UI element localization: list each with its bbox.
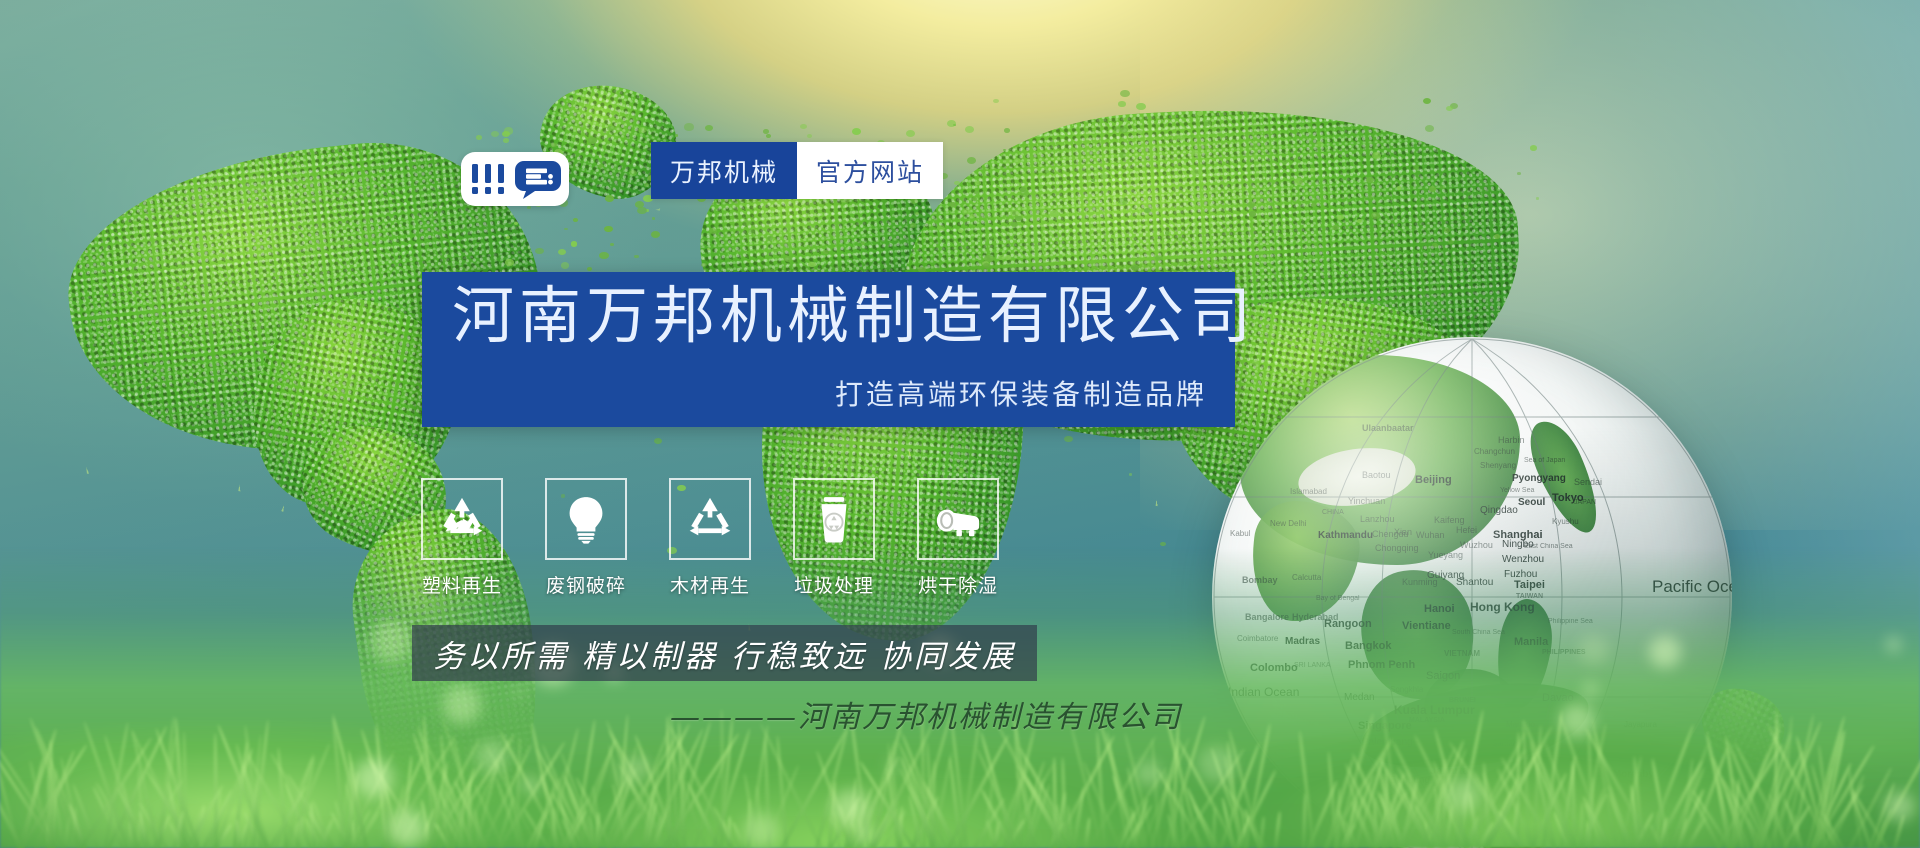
service-icon-box[interactable] bbox=[545, 478, 627, 560]
leaf-speck bbox=[551, 143, 557, 148]
leaf-speck bbox=[740, 203, 743, 205]
leaf-speck bbox=[1211, 188, 1218, 193]
service-item-plastic-recycling[interactable]: 塑料再生 bbox=[420, 478, 504, 598]
leaf-speck bbox=[1120, 90, 1129, 97]
leaf-speck bbox=[1178, 237, 1183, 240]
recycle-icon bbox=[685, 494, 735, 544]
leaf-speck bbox=[675, 134, 678, 136]
leaf-speck bbox=[1413, 165, 1419, 169]
leaf-speck bbox=[993, 99, 999, 103]
bokeh-highlight bbox=[1582, 681, 1599, 698]
slogan-signature: ————河南万邦机械制造有限公司 bbox=[670, 692, 1230, 736]
leaf-speck bbox=[506, 236, 510, 239]
leaf-speck bbox=[1247, 202, 1255, 208]
bokeh-highlight bbox=[633, 759, 648, 774]
service-label: 烘干除湿 bbox=[918, 571, 998, 598]
service-icon-box[interactable] bbox=[793, 478, 875, 560]
bokeh-highlight bbox=[476, 740, 508, 772]
bokeh-highlight bbox=[885, 757, 903, 775]
leaf-speck bbox=[1004, 128, 1010, 132]
leaf-speck bbox=[766, 134, 771, 138]
leaf-speck bbox=[1204, 120, 1212, 126]
leaf-speck bbox=[813, 471, 821, 477]
leaf-speck bbox=[1249, 211, 1256, 216]
leaf-speck bbox=[1131, 265, 1139, 271]
lightbulb-icon bbox=[561, 494, 611, 544]
leaf-speck bbox=[1448, 240, 1454, 244]
leaf-speck bbox=[610, 243, 614, 246]
leaf-speck bbox=[599, 252, 609, 259]
bokeh-highlight bbox=[389, 810, 426, 847]
leaf-speck bbox=[807, 134, 813, 138]
leaf-speck bbox=[1190, 135, 1194, 138]
leaf-speck bbox=[1444, 228, 1450, 233]
leaf-speck bbox=[644, 183, 649, 187]
leaf-speck bbox=[748, 229, 754, 234]
service-icon-box[interactable] bbox=[421, 478, 503, 560]
bokeh-highlight bbox=[744, 813, 779, 848]
service-label: 木材再生 bbox=[670, 571, 750, 598]
leaf-speck bbox=[1372, 152, 1381, 159]
leaf-speck bbox=[1530, 145, 1537, 150]
leaf-speck bbox=[958, 468, 964, 473]
leaf-speck bbox=[684, 123, 694, 130]
leaf-speck bbox=[654, 438, 662, 444]
leaf-speck bbox=[587, 267, 593, 271]
leaf-speck bbox=[1249, 145, 1254, 149]
leaf-speck bbox=[605, 195, 615, 202]
leaf-speck bbox=[634, 255, 639, 258]
leaf-speck bbox=[573, 127, 576, 129]
service-item-drying-dehumidifying[interactable]: 烘干除湿 bbox=[916, 478, 1000, 598]
leaf-speck bbox=[709, 228, 716, 234]
bokeh-highlight bbox=[513, 685, 526, 698]
leaf-speck bbox=[527, 206, 531, 209]
leaf-speck bbox=[1165, 231, 1170, 235]
leaf-speck bbox=[637, 148, 640, 150]
leaf-speck bbox=[970, 214, 975, 218]
service-item-waste-treatment[interactable]: 垃圾处理 bbox=[792, 478, 876, 598]
leaf-speck bbox=[1332, 225, 1339, 230]
leaf-speck bbox=[1129, 473, 1132, 475]
leaf-speck bbox=[967, 157, 977, 164]
grass-blade bbox=[1053, 757, 1057, 848]
leaf-speck bbox=[1118, 198, 1127, 205]
leaf-speck bbox=[1369, 196, 1373, 199]
leaf-speck bbox=[564, 228, 568, 231]
bokeh-highlight bbox=[1885, 792, 1914, 821]
leaf-speck bbox=[629, 170, 637, 176]
service-icon-row[interactable]: 塑料再生 废钢破碎 bbox=[420, 478, 1000, 598]
grass-blade bbox=[1274, 811, 1281, 848]
leaf-speck bbox=[1017, 235, 1023, 239]
leaf-speck bbox=[637, 207, 647, 214]
leaf-speck bbox=[1197, 111, 1203, 116]
e-speech-bubble-icon bbox=[515, 159, 561, 199]
leaf-speck bbox=[588, 137, 598, 144]
service-label: 塑料再生 bbox=[422, 571, 502, 598]
grass-blade bbox=[1298, 731, 1315, 848]
leaf-speck bbox=[965, 126, 974, 133]
service-label: 垃圾处理 bbox=[794, 571, 874, 598]
bokeh-highlight bbox=[523, 777, 538, 792]
leaf-speck bbox=[535, 248, 544, 255]
service-icon-box[interactable] bbox=[669, 478, 751, 560]
service-icon-box[interactable] bbox=[917, 478, 999, 560]
bokeh-highlight bbox=[1578, 635, 1609, 666]
bokeh-highlight bbox=[856, 824, 875, 843]
leaf-speck bbox=[1020, 190, 1029, 197]
leaf-speck bbox=[1316, 141, 1323, 147]
service-item-wood-recycling[interactable]: 木材再生 bbox=[668, 478, 752, 598]
bokeh-highlight bbox=[1447, 778, 1481, 812]
company-logo[interactable] bbox=[461, 152, 569, 206]
leaf-speck bbox=[571, 241, 578, 246]
leaf-speck bbox=[514, 222, 518, 225]
dryer-blower-icon bbox=[933, 494, 983, 544]
leaf-speck bbox=[1310, 168, 1316, 172]
leaf-speck bbox=[998, 255, 1004, 260]
leaf-speck bbox=[1011, 222, 1017, 227]
leaf-speck bbox=[607, 126, 614, 131]
leaf-speck bbox=[651, 231, 660, 238]
leaf-speck bbox=[800, 124, 807, 129]
trash-bin-icon bbox=[809, 494, 859, 544]
leaf-speck bbox=[983, 263, 990, 268]
leaf-speck bbox=[852, 128, 861, 135]
leaf-speck bbox=[1536, 197, 1540, 200]
bokeh-highlight bbox=[830, 794, 861, 825]
leaf-speck bbox=[808, 262, 815, 268]
tab-wanbang-machinery[interactable]: 万邦机械 bbox=[651, 142, 797, 199]
leaf-speck bbox=[638, 127, 647, 134]
leaf-speck bbox=[947, 120, 956, 127]
service-label: 废钢破碎 bbox=[546, 571, 626, 598]
leaf-speck bbox=[1014, 158, 1022, 164]
leaf-speck bbox=[707, 248, 710, 250]
bokeh-highlight bbox=[1649, 636, 1681, 668]
leaf-speck bbox=[1118, 101, 1125, 107]
leaf-speck bbox=[1119, 152, 1126, 157]
tab-official-website[interactable]: 官方网站 bbox=[797, 142, 943, 199]
grass-blade bbox=[1670, 744, 1709, 848]
leaf-speck bbox=[561, 262, 569, 268]
hero-title-banner: 河南万邦机械制造有限公司 打造高端环保装备制造品牌 bbox=[422, 272, 1235, 427]
leaf-speck bbox=[558, 249, 566, 255]
leaf-speck bbox=[1045, 170, 1050, 173]
leaf-speck bbox=[861, 242, 865, 245]
bokeh-highlight bbox=[370, 620, 412, 662]
leaf-speck bbox=[906, 130, 915, 137]
leaf-speck bbox=[1010, 210, 1019, 216]
leaf-speck bbox=[476, 135, 482, 139]
leaf-speck bbox=[1357, 219, 1362, 223]
leaf-speck bbox=[1265, 145, 1271, 149]
leaf-speck bbox=[505, 259, 514, 265]
leaf-speck bbox=[1005, 255, 1012, 260]
leaf-speck bbox=[1425, 125, 1434, 132]
main-navigation[interactable]: 万邦机械 官方网站 bbox=[651, 142, 943, 199]
bokeh-highlight bbox=[1886, 637, 1901, 652]
leaf-speck bbox=[974, 191, 979, 194]
page-title: 河南万邦机械制造有限公司 bbox=[452, 278, 1256, 356]
leaf-speck bbox=[1294, 178, 1303, 184]
leaf-speck bbox=[1064, 436, 1072, 442]
leaf-speck bbox=[604, 226, 612, 232]
leaf-speck bbox=[1429, 186, 1436, 192]
leaf-speck bbox=[705, 125, 713, 131]
leaf-speck bbox=[652, 217, 655, 220]
leaf-speck bbox=[1464, 205, 1468, 208]
leaf-speck bbox=[573, 218, 578, 222]
bokeh-highlight bbox=[355, 759, 393, 797]
recycle-icon bbox=[437, 494, 487, 544]
leaf-speck bbox=[1517, 172, 1521, 175]
leaf-speck bbox=[950, 202, 956, 207]
page-tagline: 打造高端环保装备制造品牌 bbox=[835, 373, 1207, 413]
leaf-speck bbox=[975, 181, 980, 185]
bokeh-highlight bbox=[1198, 746, 1235, 783]
hero-banner-page: UlaanbaatarBeijingBaotouYinchuanCHINALan… bbox=[0, 0, 1920, 848]
leaf-speck bbox=[1160, 542, 1166, 546]
leaf-speck bbox=[784, 256, 792, 262]
bokeh-highlight bbox=[443, 685, 482, 724]
leaf-speck bbox=[1366, 177, 1374, 183]
w-mark-icon bbox=[469, 162, 509, 196]
leaf-speck bbox=[767, 236, 773, 241]
slogan-banner: 务以所需 精以制器 行稳致远 协同发展 bbox=[412, 625, 1037, 681]
service-item-scrap-steel-crushing[interactable]: 废钢破碎 bbox=[544, 478, 628, 598]
leaf-speck bbox=[1136, 103, 1146, 110]
slogan-text: 务以所需 精以制器 行稳致远 协同发展 bbox=[433, 631, 1016, 676]
leaf-speck bbox=[773, 249, 776, 252]
